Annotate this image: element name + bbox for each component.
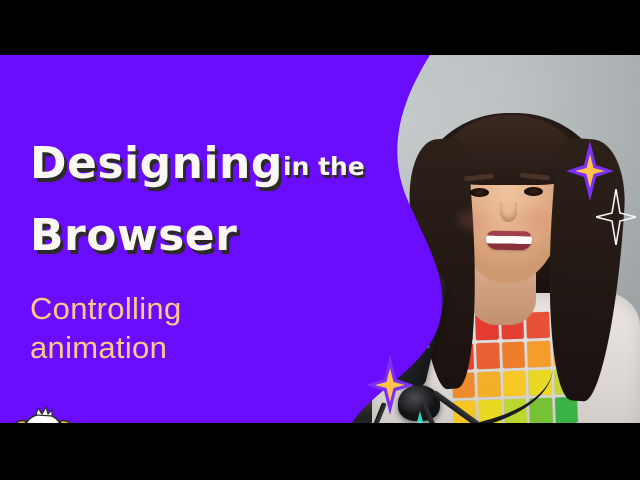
- letterbox-bar-bottom: [0, 423, 640, 480]
- title-line-2: Browser: [30, 210, 237, 261]
- video-frame: Designing in the Browser Controlling ani…: [0, 55, 640, 423]
- sparkle-white-outline-icon: [596, 189, 636, 245]
- dog-mascot-logo: [4, 403, 82, 423]
- title-line-1: Designing: [30, 138, 283, 189]
- sparkle-purple-mid-left-icon: [366, 355, 414, 415]
- title-line-1-suffix: in the: [283, 152, 365, 181]
- video-thumbnail: Designing in the Browser Controlling ani…: [0, 0, 640, 480]
- letterbox-bar-top: [0, 0, 640, 55]
- sparkle-teal-bottom-icon: [400, 411, 440, 423]
- subtitle-line-1: Controlling: [30, 291, 182, 327]
- subtitle-line-2: animation: [30, 330, 167, 366]
